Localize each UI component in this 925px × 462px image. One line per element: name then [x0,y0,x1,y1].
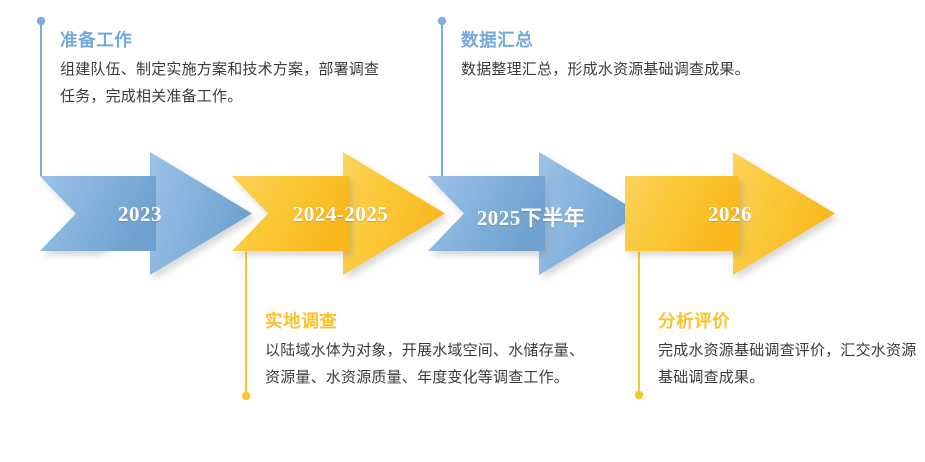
callout-title-preparation: 准备工作 [60,30,385,52]
arrow-body-1 [40,176,156,251]
callout-title-analysis-evaluation: 分析评价 [658,311,923,333]
callout-body-data-aggregation: 数据整理汇总，形成水资源基础调查成果。 [461,57,791,84]
arrow-body-4 [625,176,739,251]
callout-preparation: 准备工作 组建队伍、制定实施方案和技术方案，部署调查任务，完成相关准备工作。 [60,30,385,110]
callout-title-data-aggregation: 数据汇总 [461,30,791,52]
callout-body-field-survey: 以陆域水体为对象，开展水域空间、水储存量、资源量、水资源质量、年度变化等调查工作… [265,338,590,391]
arrow-body-3 [428,176,545,251]
callout-body-preparation: 组建队伍、制定实施方案和技术方案，部署调查任务，完成相关准备工作。 [60,57,385,110]
callout-body-analysis-evaluation: 完成水资源基础调查评价，汇交水资源基础调查成果。 [658,338,923,391]
callout-field-survey: 实地调查 以陆域水体为对象，开展水域空间、水储存量、资源量、水资源质量、年度变化… [265,311,590,391]
timeline-diagram: 2023 2024-2025 2025下半年 2026 准备工作 组建队伍、制定… [0,0,925,462]
connector-line-3 [438,17,446,176]
arrow-head-1 [150,152,252,275]
callout-analysis-evaluation: 分析评价 完成水资源基础调查评价，汇交水资源基础调查成果。 [658,311,923,391]
callout-data-aggregation: 数据汇总 数据整理汇总，形成水资源基础调查成果。 [461,30,791,84]
arrow-head-2 [343,152,445,275]
callout-title-field-survey: 实地调查 [265,311,590,333]
arrow-head-4 [733,152,835,275]
connector-line-4 [635,252,643,399]
connector-line-1 [37,17,45,176]
connector-line-2 [242,252,250,400]
